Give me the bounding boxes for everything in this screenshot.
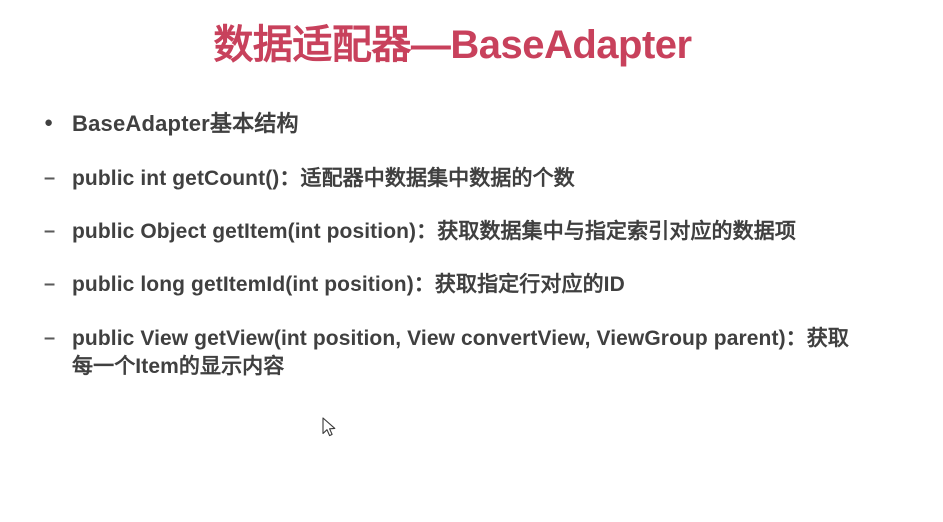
dash-bullet-icon: – [44,271,72,298]
bullet-text: BaseAdapter基本结构 [72,110,904,138]
list-item: – public View getView(int position, View… [44,325,904,381]
dash-bullet-icon: – [44,165,72,192]
list-item: ● BaseAdapter基本结构 [44,110,904,138]
list-item: – public long getItemId(int position)：获取… [44,271,904,299]
disc-bullet-icon: ● [44,110,72,136]
list-item: – public int getCount()：适配器中数据集中数据的个数 [44,165,904,193]
dash-bullet-icon: – [44,325,72,352]
slide-title: 数据适配器—BaseAdapter [0,22,924,68]
dash-bullet-icon: – [44,218,72,245]
bullet-list: ● BaseAdapter基本结构 – public int getCount(… [44,110,904,381]
slide-canvas: 数据适配器—BaseAdapter ● BaseAdapter基本结构 – pu… [0,0,943,522]
bullet-text: public long getItemId(int position)：获取指定… [72,271,862,299]
bullet-text: public Object getItem(int position)：获取数据… [72,218,862,246]
list-item: – public Object getItem(int position)：获取… [44,218,904,246]
bullet-text: public int getCount()：适配器中数据集中数据的个数 [72,165,862,193]
mouse-arrow-cursor-icon [322,417,338,439]
bullet-text: public View getView(int position, View c… [72,325,862,381]
